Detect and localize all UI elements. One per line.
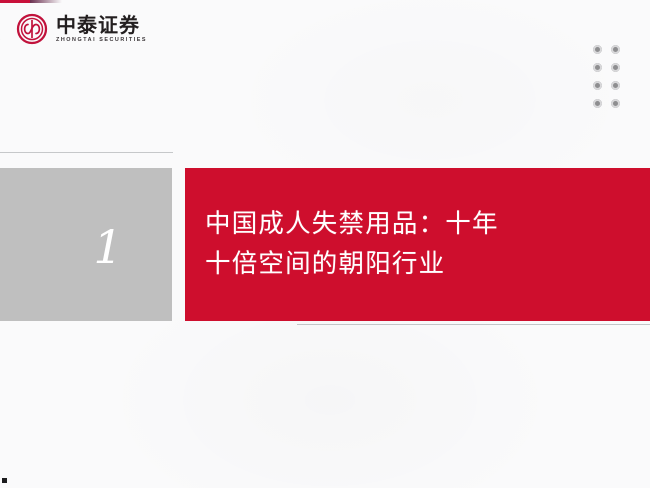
presentation-slide: 中泰证券 ZHONGTAI SECURITIES 1 中国成人失禁用品：十年 十… xyxy=(0,0,650,488)
brand-logo: 中泰证券 ZHONGTAI SECURITIES xyxy=(16,13,147,45)
corner-marker xyxy=(2,478,7,483)
brand-wordmark: 中泰证券 ZHONGTAI SECURITIES xyxy=(56,15,147,43)
section-number-block: 1 xyxy=(0,168,172,321)
grid-dot xyxy=(593,45,602,54)
brand-name-en: ZHONGTAI SECURITIES xyxy=(56,38,147,43)
grid-dot xyxy=(611,63,620,72)
brand-name-cn: 中泰证券 xyxy=(56,15,147,35)
grid-dot xyxy=(593,81,602,90)
grid-dot xyxy=(593,99,602,108)
divider-rule-lower-right xyxy=(297,324,650,325)
page-title: 中国成人失禁用品：十年 十倍空间的朝阳行业 xyxy=(185,204,499,286)
section-number: 1 xyxy=(93,224,122,270)
zhongtai-circle-emblem-icon xyxy=(16,13,48,45)
divider-rule-upper-left xyxy=(0,152,173,153)
grid-dot xyxy=(611,81,620,90)
grid-dot xyxy=(611,45,620,54)
top-accent-bar xyxy=(0,0,30,3)
decorative-dot-grid xyxy=(593,45,620,108)
section-title-banner: 中国成人失禁用品：十年 十倍空间的朝阳行业 xyxy=(185,168,650,321)
grid-dot xyxy=(593,63,602,72)
top-accent-bar-fade xyxy=(30,0,62,3)
grid-dot xyxy=(611,99,620,108)
